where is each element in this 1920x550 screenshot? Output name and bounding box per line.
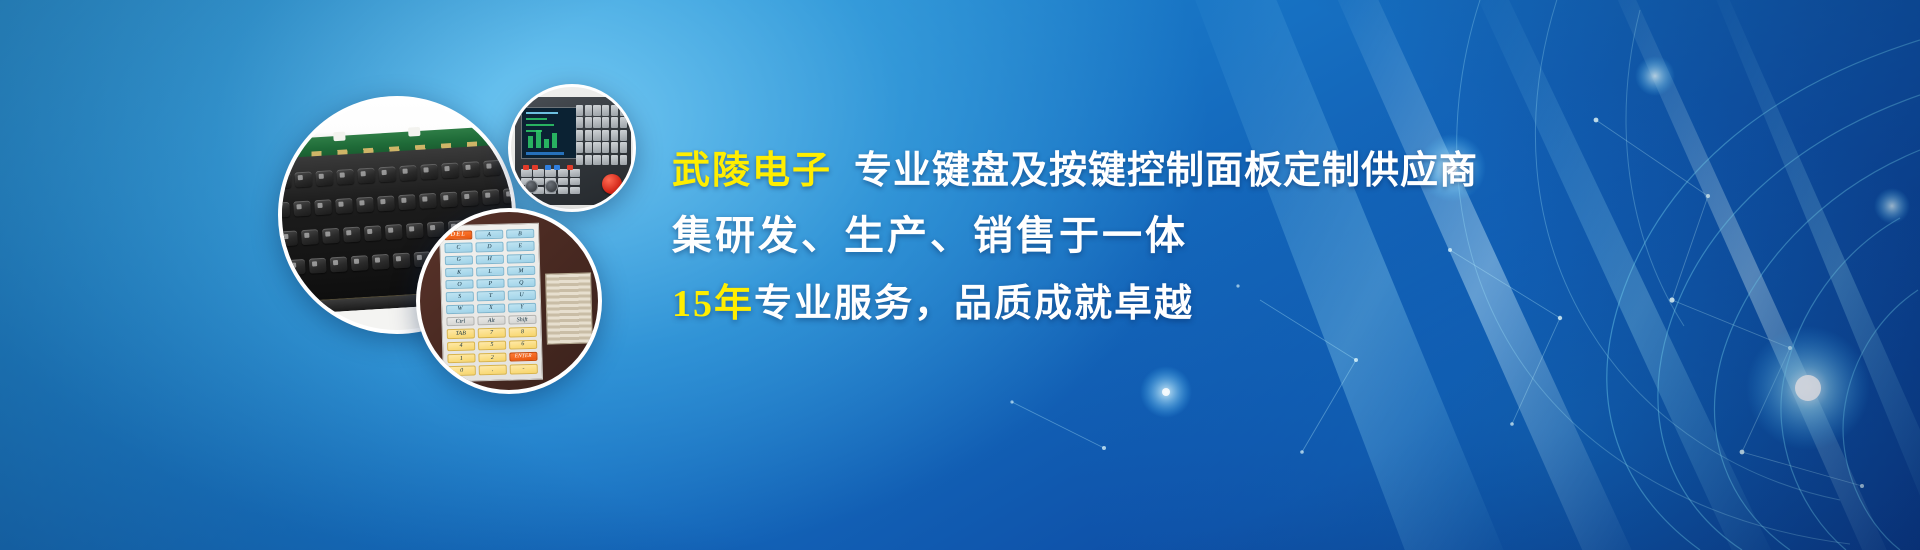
banner-copy: 武陵电子专业键盘及按键控制面板定制供应商 集研发、生产、销售于一体 15年专业服… [672, 146, 1852, 329]
headline: 武陵电子专业键盘及按键控制面板定制供应商 [672, 146, 1852, 196]
emergency-stop-button [602, 174, 622, 194]
brand-name: 武陵电子 [672, 148, 832, 192]
promo-banner: DELAB CDE GHI KLM OPQ STU WXY CtrlAltShi… [0, 0, 1920, 550]
tagline: 15年专业服务，品质成就卓越 [672, 280, 1852, 329]
tagline-rest: 专业服务，品质成就卓越 [754, 283, 1194, 325]
product-photo-cluster: DELAB CDE GHI KLM OPQ STU WXY CtrlAltShi… [268, 78, 628, 418]
membrane-keypad-photo: DELAB CDE GHI KLM OPQ STU WXY CtrlAltShi… [416, 208, 602, 394]
keypad-plate: DELAB CDE GHI KLM OPQ STU WXY CtrlAltShi… [439, 223, 543, 382]
cnc-control-panel-photo [508, 84, 636, 212]
ribbon-cable [545, 272, 593, 344]
tagline-years: 15年 [672, 283, 754, 325]
subline: 集研发、生产、销售于一体 [672, 210, 1852, 262]
headline-suffix: 专业键盘及按键控制面板定制供应商 [854, 150, 1478, 192]
cnc-screen [521, 107, 577, 159]
